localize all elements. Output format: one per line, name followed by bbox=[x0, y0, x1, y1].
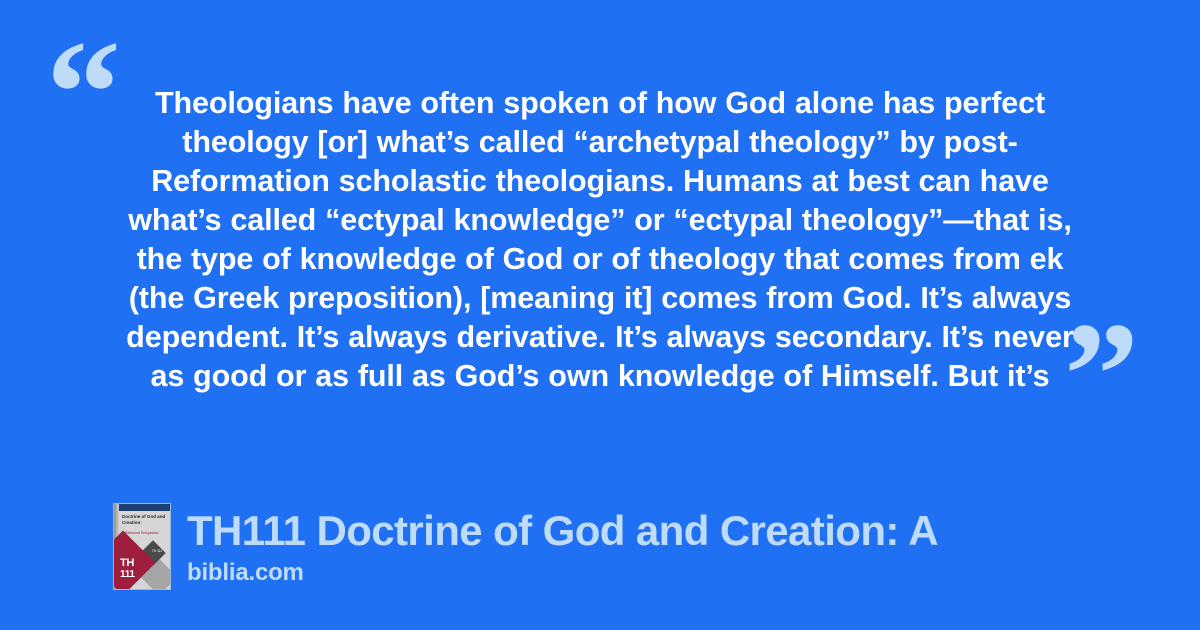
book-cover-thumbnail: Doctrine of God and Creation: A Reformed… bbox=[113, 503, 171, 590]
cover-subtitle: A Reformed Perspective bbox=[122, 531, 167, 535]
cover-badge-label: TH 111 bbox=[150, 550, 164, 553]
footer-text-block: TH111 Doctrine of God and Creation: A bi… bbox=[187, 506, 938, 588]
cover-course-code: TH 111 bbox=[120, 558, 135, 580]
cover-top-band bbox=[114, 504, 170, 511]
quote-card: “ ” Theologians have often spoken of how… bbox=[0, 0, 1200, 630]
footer: Doctrine of God and Creation: A Reformed… bbox=[113, 503, 938, 590]
cover-course-code-number: 111 bbox=[120, 569, 135, 580]
quote-text: Theologians have often spoken of how God… bbox=[110, 84, 1090, 396]
cover-course-code-prefix: TH bbox=[120, 557, 134, 569]
resource-title: TH111 Doctrine of God and Creation: A bbox=[187, 506, 938, 556]
quote-block: Theologians have often spoken of how God… bbox=[110, 84, 1090, 396]
cover-title: Doctrine of God and Creation: bbox=[122, 514, 167, 525]
open-quote-icon: “ bbox=[46, 18, 119, 168]
source-site[interactable]: biblia.com bbox=[187, 558, 938, 588]
